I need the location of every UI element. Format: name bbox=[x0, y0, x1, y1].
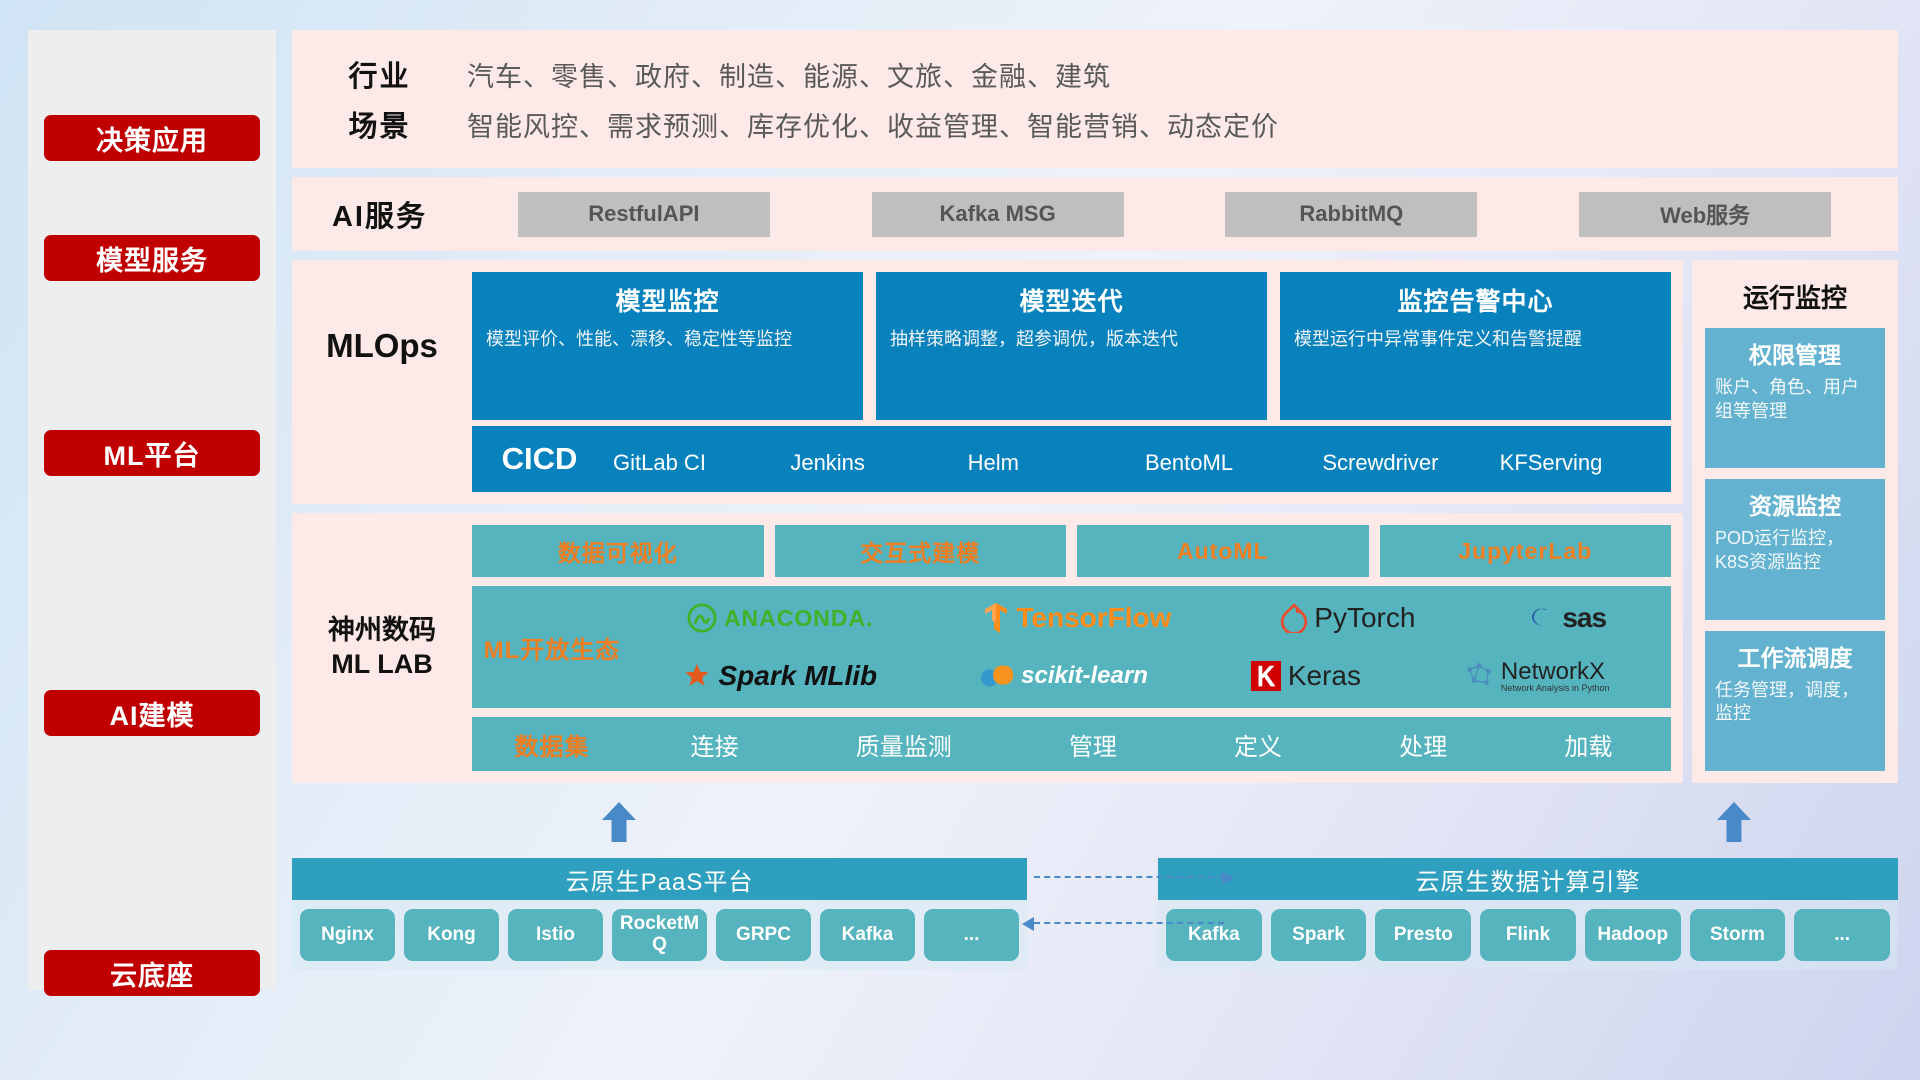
cicd-item-kfserving[interactable]: KFServing bbox=[1494, 452, 1671, 474]
engine-chip-spark[interactable]: Spark bbox=[1271, 909, 1367, 961]
paas-chip-kafka[interactable]: Kafka bbox=[820, 909, 915, 961]
mlops-card-title: 模型迭代 bbox=[890, 282, 1253, 318]
runtime-monitoring-title: 运行监控 bbox=[1705, 270, 1885, 317]
engine-chip-hadoop[interactable]: Hadoop bbox=[1585, 909, 1681, 961]
applications-band: 行业 汽车、零售、政府、制造、能源、文旅、金融、建筑 场景 智能风控、需求预测、… bbox=[292, 30, 1898, 168]
dataset-item-processing[interactable]: 处理 bbox=[1399, 727, 1447, 762]
ai-service-band: AI服务 RestfulAPI Kafka MSG RabbitMQ Web服务 bbox=[292, 177, 1898, 251]
cicd-item-jenkins[interactable]: Jenkins bbox=[784, 452, 961, 474]
tensorflow-logo: TensorFlow bbox=[983, 602, 1171, 634]
monitor-card-permission[interactable]: 权限管理 账户、角色、用户组等管理 bbox=[1705, 328, 1885, 468]
layer-chip-decision-app: 决策应用 bbox=[44, 115, 260, 161]
ai-service-label: AI服务 bbox=[292, 193, 467, 235]
pytorch-label: PyTorch bbox=[1314, 602, 1415, 634]
scikit-learn-logo: scikit-learn bbox=[980, 662, 1148, 690]
networkx-label: NetworkX bbox=[1501, 660, 1610, 684]
sas-icon bbox=[1525, 603, 1555, 633]
mlops-card-alert-center[interactable]: 监控告警中心 模型运行中异常事件定义和告警提醒 bbox=[1280, 272, 1671, 420]
mllab-label-line2: ML LAB bbox=[331, 648, 433, 682]
dataset-item-connect[interactable]: 连接 bbox=[691, 727, 739, 762]
paas-chip-grpc[interactable]: GRPC bbox=[716, 909, 811, 961]
scikit-learn-icon bbox=[980, 662, 1014, 690]
ai-service-item-web-service[interactable]: Web服务 bbox=[1579, 192, 1831, 237]
engine-chip-kafka[interactable]: Kafka bbox=[1166, 909, 1262, 961]
dataset-item-definition[interactable]: 定义 bbox=[1234, 727, 1282, 762]
ai-service-item-rabbitmq[interactable]: RabbitMQ bbox=[1225, 192, 1477, 237]
mlops-card-desc: 模型运行中异常事件定义和告警提醒 bbox=[1294, 327, 1657, 351]
dataset-item-management[interactable]: 管理 bbox=[1069, 727, 1117, 762]
mllab-tab-jupyterlab[interactable]: JupyterLab bbox=[1380, 525, 1672, 577]
ecosystem-label: ML开放生态 bbox=[472, 586, 632, 708]
cicd-item-screwdriver[interactable]: Screwdriver bbox=[1316, 452, 1493, 474]
layer-chip-label: ML平台 bbox=[104, 434, 201, 473]
layer-chip-label: 决策应用 bbox=[96, 119, 208, 158]
engine-chip-storm[interactable]: Storm bbox=[1690, 909, 1786, 961]
cicd-item-helm[interactable]: Helm bbox=[962, 452, 1139, 474]
mllab-tab-interactive-modeling[interactable]: 交互式建模 bbox=[775, 525, 1067, 577]
paas-chip-rocketmq[interactable]: RocketMQ bbox=[612, 909, 707, 961]
scenario-value: 智能风控、需求预测、库存优化、收益管理、智能营销、动态定价 bbox=[467, 105, 1279, 144]
layer-chip-ai-modeling: AI建模 bbox=[44, 690, 260, 736]
dataset-item-quality-monitoring[interactable]: 质量监测 bbox=[856, 727, 952, 762]
layer-chip-label: AI建模 bbox=[110, 694, 195, 733]
engine-chip-presto[interactable]: Presto bbox=[1375, 909, 1471, 961]
monitor-card-title: 资源监控 bbox=[1715, 487, 1875, 521]
dataset-item-loading[interactable]: 加载 bbox=[1564, 727, 1612, 762]
mllab-band: 神州数码 ML LAB 数据可视化 交互式建模 AutoML JupyterLa… bbox=[292, 513, 1683, 783]
keras-label: Keras bbox=[1288, 660, 1361, 692]
spark-icon bbox=[683, 663, 711, 689]
anaconda-label: ANACONDA. bbox=[724, 605, 874, 632]
dashed-arrow-left-icon bbox=[1022, 917, 1034, 931]
runtime-monitoring-panel: 运行监控 权限管理 账户、角色、用户组等管理 资源监控 POD运行监控，K8S资… bbox=[1692, 260, 1898, 783]
dataset-row: 数据集 连接 质量监测 管理 定义 处理 加载 bbox=[472, 717, 1671, 771]
monitor-card-desc: POD运行监控，K8S资源监控 bbox=[1715, 527, 1875, 575]
dataset-label: 数据集 bbox=[472, 727, 632, 762]
mllab-tab-data-visualization[interactable]: 数据可视化 bbox=[472, 525, 764, 577]
networkx-icon bbox=[1464, 662, 1494, 690]
mlops-card-desc: 抽样策略调整，超参调优，版本迭代 bbox=[890, 327, 1253, 351]
scenario-label: 场景 bbox=[292, 103, 467, 145]
mlops-card-model-monitoring[interactable]: 模型监控 模型评价、性能、漂移、稳定性等监控 bbox=[472, 272, 863, 420]
cloud-foundation-section: 云原生PaaS平台 Nginx Kong Istio RocketMQ GRPC… bbox=[292, 802, 1898, 970]
paas-chip-kong[interactable]: Kong bbox=[404, 909, 499, 961]
ml-open-ecosystem: ML开放生态 ANACONDA. bbox=[472, 586, 1671, 708]
dashed-connector-bottom bbox=[1034, 922, 1224, 924]
layer-rail: 决策应用 模型服务 ML平台 AI建模 云底座 bbox=[28, 30, 276, 990]
sas-label: sas bbox=[1562, 602, 1606, 634]
engine-chip-flink[interactable]: Flink bbox=[1480, 909, 1576, 961]
ai-service-item-kafka-msg[interactable]: Kafka MSG bbox=[872, 192, 1124, 237]
networkx-logo: NetworkX Network Analysis in Python bbox=[1464, 660, 1610, 693]
monitor-card-title: 工作流调度 bbox=[1715, 639, 1875, 673]
networkx-sublabel: Network Analysis in Python bbox=[1501, 684, 1610, 693]
ai-service-item-restfulapi[interactable]: RestfulAPI bbox=[518, 192, 770, 237]
tensorflow-label: TensorFlow bbox=[1016, 602, 1171, 634]
mlops-card-title: 监控告警中心 bbox=[1294, 282, 1657, 318]
industry-label: 行业 bbox=[292, 53, 467, 95]
monitor-card-desc: 账户、角色、用户组等管理 bbox=[1715, 376, 1875, 424]
engine-chip-more[interactable]: ... bbox=[1794, 909, 1890, 961]
monitor-card-desc: 任务管理，调度，监控 bbox=[1715, 679, 1875, 727]
industry-row: 行业 汽车、零售、政府、制造、能源、文旅、金融、建筑 bbox=[292, 53, 1898, 95]
data-engine-title: 云原生数据计算引擎 bbox=[1158, 858, 1898, 900]
mllab-label-line1: 神州数码 bbox=[328, 614, 436, 648]
mlops-card-model-iteration[interactable]: 模型迭代 抽样策略调整，超参调优，版本迭代 bbox=[876, 272, 1267, 420]
layer-chip-cloud-base: 云底座 bbox=[44, 950, 260, 996]
arrow-up-paas-icon bbox=[602, 802, 636, 842]
mllab-label: 神州数码 ML LAB bbox=[292, 525, 472, 771]
mllab-tab-automl[interactable]: AutoML bbox=[1077, 525, 1369, 577]
layer-chip-ml-platform: ML平台 bbox=[44, 430, 260, 476]
spark-mllib-label: Spark MLlib bbox=[718, 660, 877, 692]
scikit-learn-label: scikit-learn bbox=[1021, 662, 1148, 690]
arrow-up-data-engine-icon bbox=[1717, 802, 1751, 842]
keras-logo: Keras bbox=[1251, 660, 1361, 692]
monitor-card-title: 权限管理 bbox=[1715, 336, 1875, 370]
monitor-card-workflow[interactable]: 工作流调度 任务管理，调度，监控 bbox=[1705, 631, 1885, 771]
data-engine-block: 云原生数据计算引擎 Kafka Spark Presto Flink Hadoo… bbox=[1158, 858, 1898, 970]
anaconda-logo: ANACONDA. bbox=[687, 603, 874, 633]
architecture-diagram: 决策应用 模型服务 ML平台 AI建模 云底座 行业 汽车、零售、政府、制造、能… bbox=[0, 0, 1920, 1080]
cicd-title: CICD bbox=[472, 441, 607, 477]
pytorch-icon bbox=[1281, 603, 1307, 633]
mlops-band: MLOps 模型监控 模型评价、性能、漂移、稳定性等监控 模型迭代 抽样策略调整… bbox=[292, 260, 1683, 504]
mlops-card-desc: 模型评价、性能、漂移、稳定性等监控 bbox=[486, 327, 849, 351]
paas-platform-title: 云原生PaaS平台 bbox=[292, 858, 1027, 900]
mlops-card-title: 模型监控 bbox=[486, 282, 849, 318]
cicd-item-gitlab-ci[interactable]: GitLab CI bbox=[607, 452, 784, 474]
platform-section: MLOps 模型监控 模型评价、性能、漂移、稳定性等监控 模型迭代 抽样策略调整… bbox=[292, 260, 1898, 783]
industry-value: 汽车、零售、政府、制造、能源、文旅、金融、建筑 bbox=[467, 55, 1111, 94]
monitor-card-resource[interactable]: 资源监控 POD运行监控，K8S资源监控 bbox=[1705, 479, 1885, 619]
sas-logo: sas bbox=[1525, 602, 1606, 634]
paas-chip-more[interactable]: ... bbox=[924, 909, 1019, 961]
cicd-bar: CICD GitLab CI Jenkins Helm BentoML Scre… bbox=[472, 426, 1671, 492]
paas-platform-block: 云原生PaaS平台 Nginx Kong Istio RocketMQ GRPC… bbox=[292, 858, 1027, 970]
dashed-connector-top bbox=[1034, 876, 1224, 878]
scenario-row: 场景 智能风控、需求预测、库存优化、收益管理、智能营销、动态定价 bbox=[292, 103, 1898, 145]
tensorflow-icon bbox=[983, 602, 1009, 634]
cicd-item-bentoml[interactable]: BentoML bbox=[1139, 452, 1316, 474]
layer-chip-model-service: 模型服务 bbox=[44, 235, 260, 281]
main-stack: 行业 汽车、零售、政府、制造、能源、文旅、金融、建筑 场景 智能风控、需求预测、… bbox=[292, 30, 1898, 1050]
mlops-label: MLOps bbox=[292, 272, 472, 420]
paas-chip-nginx[interactable]: Nginx bbox=[300, 909, 395, 961]
anaconda-icon bbox=[687, 603, 717, 633]
keras-icon bbox=[1251, 661, 1281, 691]
paas-chip-istio[interactable]: Istio bbox=[508, 909, 603, 961]
layer-chip-label: 模型服务 bbox=[96, 239, 208, 278]
pytorch-logo: PyTorch bbox=[1281, 602, 1415, 634]
layer-chip-label: 云底座 bbox=[110, 954, 194, 993]
spark-mllib-logo: Spark MLlib bbox=[683, 660, 877, 692]
dashed-arrow-right-icon bbox=[1222, 871, 1234, 885]
